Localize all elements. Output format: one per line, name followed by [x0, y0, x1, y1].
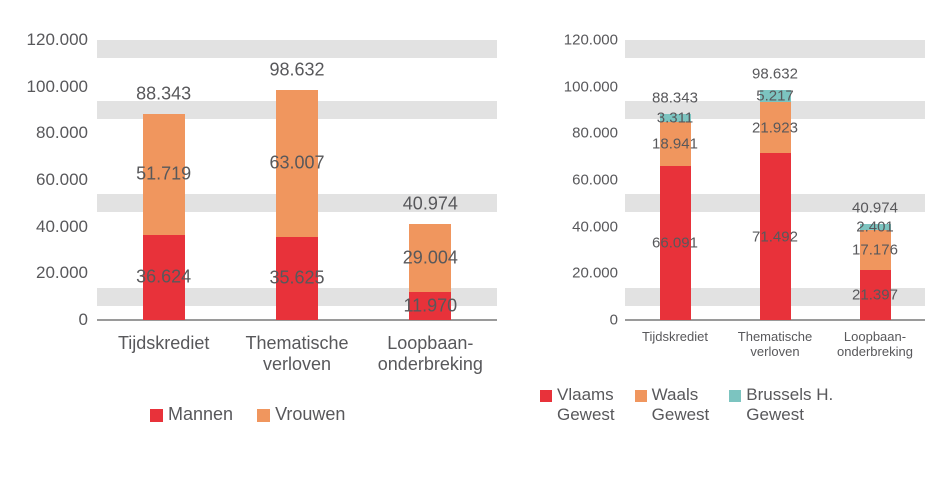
bar-value-label: 21.397: [852, 287, 898, 304]
chart-panel-region: 020.00040.00060.00080.000100.000120.000 …: [500, 0, 945, 482]
y-axis-tick-label: 80.000: [572, 125, 618, 142]
legend-item[interactable]: Vlaams Gewest: [540, 385, 615, 425]
bar-value-label: 5.217: [756, 87, 794, 104]
y-axis-tick-label: 60.000: [36, 170, 88, 190]
y-axis-tick-label: 80.000: [36, 123, 88, 143]
x-axis-category-label: Thematische verloven: [725, 330, 825, 360]
legend-swatch-icon: [540, 390, 552, 402]
legend-left: MannenVrouwen: [150, 404, 345, 425]
plot-area-right: 66.09118.9413.31188.34371.49221.9235.217…: [625, 40, 925, 320]
y-axis-tick-label: 20.000: [572, 265, 618, 282]
bar-value-label: 21.923: [752, 119, 798, 136]
bar-group[interactable]: [409, 40, 451, 320]
legend-label: Brussels H. Gewest: [746, 385, 833, 425]
legend-item[interactable]: Brussels H. Gewest: [729, 385, 833, 425]
bar-value-label: 51.719: [136, 164, 191, 185]
plot-area-left: 36.62451.71988.34335.62563.00798.63211.9…: [97, 40, 497, 320]
legend-label: Vlaams Gewest: [557, 385, 615, 425]
bar-total-label: 88.343: [136, 83, 191, 104]
legend-item[interactable]: Vrouwen: [257, 404, 345, 425]
y-axis-tick-label: 0: [79, 310, 88, 330]
y-axis-tick-label: 100.000: [27, 77, 88, 97]
x-axis-category-label: Loopbaan- onderbreking: [364, 333, 497, 374]
y-axis-tick-label: 40.000: [36, 217, 88, 237]
bar-total-label: 40.974: [852, 200, 898, 217]
bar-value-label: 18.941: [652, 135, 698, 152]
legend-item[interactable]: Mannen: [150, 404, 233, 425]
legend-label: Waals Gewest: [652, 385, 710, 425]
bar-value-label: 3.311: [657, 109, 693, 126]
legend-swatch-icon: [150, 409, 163, 422]
bar-total-label: 88.343: [652, 89, 698, 106]
y-axis-tick-label: 40.000: [572, 218, 618, 235]
x-axis-category-label: Tijdskrediet: [97, 333, 230, 354]
chart-panel-gender: 020.00040.00060.00080.000100.000120.000 …: [0, 0, 500, 482]
bar-value-label: 11.970: [403, 296, 457, 317]
bar-value-label: 35.625: [269, 268, 324, 289]
legend-label: Mannen: [168, 404, 233, 425]
bar-total-label: 40.974: [403, 194, 458, 215]
legend-swatch-icon: [635, 390, 647, 402]
legend-item[interactable]: Waals Gewest: [635, 385, 710, 425]
bar-value-label: 29.004: [403, 248, 458, 269]
y-axis-tick-label: 60.000: [572, 172, 618, 189]
y-axis-tick-label: 120.000: [564, 32, 618, 49]
y-axis-tick-label: 0: [610, 312, 618, 329]
legend-label: Vrouwen: [275, 404, 345, 425]
x-axis-category-label: Thematische verloven: [230, 333, 363, 374]
y-axis-labels-right: 020.00040.00060.00080.000100.000120.000: [528, 40, 618, 320]
y-axis-tick-label: 20.000: [36, 263, 88, 283]
bar-value-label: 17.176: [852, 242, 898, 259]
bar-group[interactable]: [860, 40, 891, 320]
bar-value-label: 36.624: [136, 267, 191, 288]
bar-value-label: 2.401: [856, 219, 894, 236]
bar-group[interactable]: [660, 40, 691, 320]
bar-total-label: 98.632: [752, 65, 798, 82]
bar-value-label: 71.492: [752, 228, 798, 245]
bar-value-label: 66.091: [652, 234, 698, 251]
legend-swatch-icon: [257, 409, 270, 422]
bar-value-label: 63.007: [269, 153, 324, 174]
dual-stacked-bar-chart-figure: 020.00040.00060.00080.000100.000120.000 …: [0, 0, 945, 482]
x-axis-category-label: Loopbaan- onderbreking: [825, 330, 925, 360]
legend-right: Vlaams GewestWaals GewestBrussels H. Gew…: [540, 385, 833, 425]
x-axis-category-label: Tijdskrediet: [625, 330, 725, 345]
y-axis-labels-left: 020.00040.00060.00080.000100.000120.000: [0, 40, 88, 320]
legend-swatch-icon: [729, 390, 741, 402]
y-axis-tick-label: 100.000: [564, 78, 618, 95]
y-axis-tick-label: 120.000: [27, 30, 88, 50]
bar-total-label: 98.632: [269, 59, 324, 80]
